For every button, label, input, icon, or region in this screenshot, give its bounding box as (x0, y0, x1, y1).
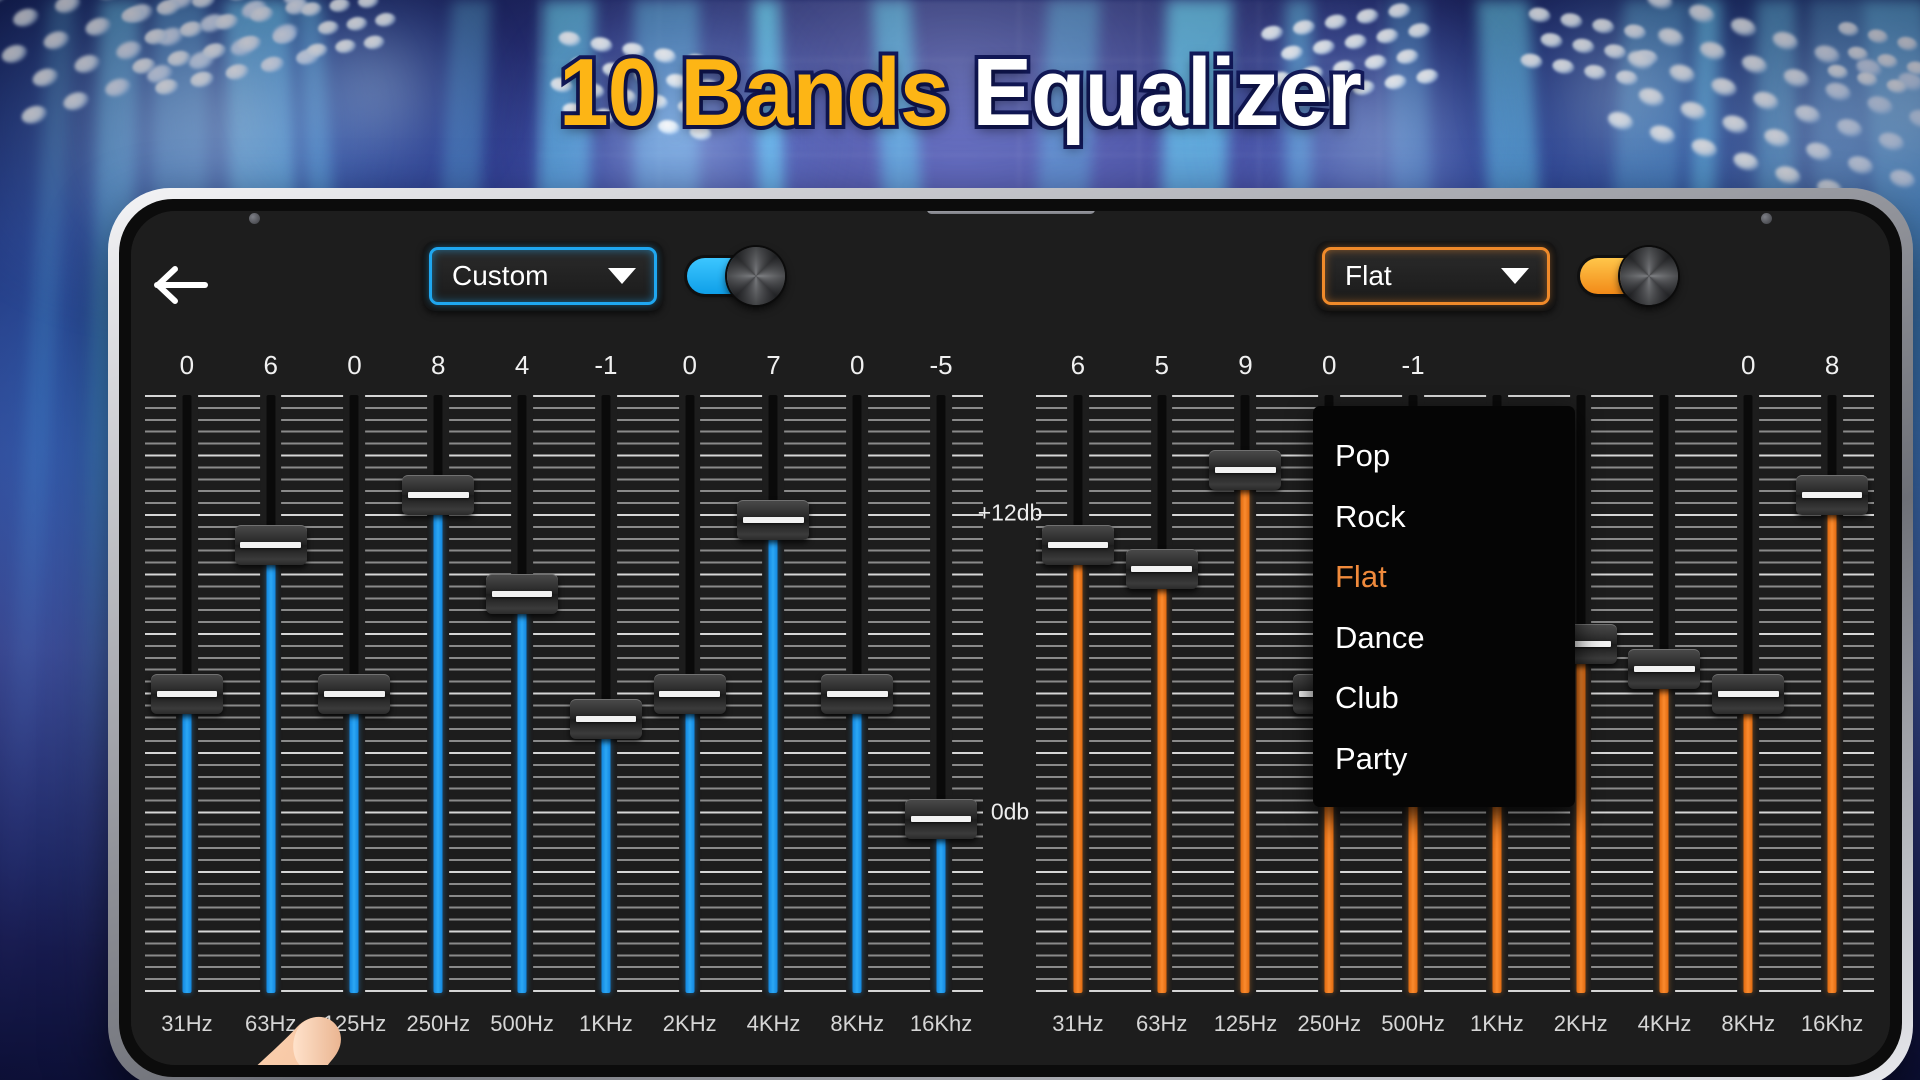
slider-track-filled (434, 495, 443, 993)
slider-value-label (1455, 347, 1539, 383)
slider-track-filled (769, 520, 778, 993)
slider-thumb[interactable] (1042, 525, 1114, 565)
slider-track-filled (266, 545, 275, 994)
db-scale-mid-label: 0db (991, 799, 1029, 826)
eq-slider[interactable] (229, 395, 313, 993)
slider-value-label: -1 (564, 347, 648, 383)
slider-value-label: 8 (396, 347, 480, 383)
slider-value-label: 0 (815, 347, 899, 383)
slider-thumb[interactable] (151, 674, 223, 714)
slider-thumb[interactable] (1628, 649, 1700, 689)
equalizer-app: Custom Flat (131, 211, 1890, 1065)
preset-menu-item[interactable]: Party (1313, 729, 1575, 790)
left-eq-toggle-knob (727, 247, 785, 305)
slider-frequency-label: 2KHz (648, 1009, 732, 1039)
slider-track[interactable] (1157, 395, 1166, 993)
slider-track-unfilled (350, 395, 359, 694)
slider-track-filled (601, 719, 610, 993)
slider-track[interactable] (937, 395, 946, 993)
left-preset-dropdown-value: Custom (452, 260, 548, 292)
slider-track-unfilled (1576, 395, 1585, 644)
eq-slider[interactable] (1204, 395, 1288, 993)
slider-thumb[interactable] (570, 699, 642, 739)
slider-frequency-label: 125Hz (1204, 1009, 1288, 1039)
slider-frequency-label: 31Hz (1036, 1009, 1120, 1039)
right-eq-toggle[interactable] (1580, 254, 1672, 298)
phone-device-frame: Custom Flat (108, 188, 1913, 1080)
slider-value-label: 4 (480, 347, 564, 383)
eq-slider[interactable] (899, 395, 983, 993)
slider-frequency-label: 250Hz (396, 1009, 480, 1039)
slider-thumb[interactable] (1796, 475, 1868, 515)
slider-track-unfilled (853, 395, 862, 694)
arrow-left-icon (153, 265, 211, 305)
slider-frequency-label: 2KHz (1539, 1009, 1623, 1039)
slider-frequency-label: 250Hz (1287, 1009, 1371, 1039)
phone-screen: Custom Flat (131, 211, 1890, 1065)
preset-dropdown-menu[interactable]: PopRockFlatDanceClubParty (1313, 406, 1575, 807)
slider-frequency-label: 8KHz (1706, 1009, 1790, 1039)
slider-track-filled (1073, 545, 1082, 994)
slider-track-unfilled (685, 395, 694, 694)
slider-value-label (1539, 347, 1623, 383)
slider-track-unfilled (1073, 395, 1082, 545)
app-topbar: Custom Flat (131, 211, 1890, 329)
slider-thumb[interactable] (905, 799, 977, 839)
slider-value-label: 6 (1036, 347, 1120, 383)
slider-track-filled (518, 594, 527, 993)
left-preset-dropdown-frame: Custom (423, 241, 663, 311)
phone-speaker-grille (927, 211, 1095, 214)
slider-thumb[interactable] (318, 674, 390, 714)
slider-track-unfilled (1744, 395, 1753, 694)
slider-thumb[interactable] (821, 674, 893, 714)
phone-sensor-dot (1761, 213, 1772, 224)
slider-value-label (1623, 347, 1707, 383)
slider-frequency-label: 8KHz (815, 1009, 899, 1039)
eq-slider[interactable] (732, 395, 816, 993)
equalizer-panel-custom: 06084-1070-5 31Hz63Hz125Hz250Hz500Hz1KHz… (145, 329, 983, 1065)
slider-track-unfilled (266, 395, 275, 545)
slider-track-filled (182, 694, 191, 993)
phone-bezel: Custom Flat (119, 199, 1902, 1077)
slider-frequency-label: 500Hz (480, 1009, 564, 1039)
right-preset-controls: Flat (1316, 241, 1672, 311)
right-eq-toggle-knob (1620, 247, 1678, 305)
eq-slider[interactable] (564, 395, 648, 993)
slider-frequency-label: 125Hz (313, 1009, 397, 1039)
right-preset-dropdown-frame: Flat (1316, 241, 1556, 311)
eq-slider[interactable] (396, 395, 480, 993)
slider-value-label: 0 (1287, 347, 1371, 383)
eq-slider[interactable] (1706, 395, 1790, 993)
db-scale-top-label: +12db (978, 500, 1043, 527)
slider-value-label: 5 (1120, 347, 1204, 383)
slider-value-label: 8 (1790, 347, 1874, 383)
eq-slider[interactable] (815, 395, 899, 993)
slider-track-filled (1828, 495, 1837, 993)
slider-thumb[interactable] (1126, 549, 1198, 589)
slider-track-filled (1576, 644, 1585, 993)
left-preset-controls: Custom (423, 241, 779, 311)
slider-track[interactable] (1576, 395, 1585, 993)
eq-slider[interactable] (648, 395, 732, 993)
chevron-down-icon (1501, 268, 1529, 284)
right-frequency-row: 31Hz63Hz125Hz250Hz500Hz1KHz2KHz4KHz8KHz1… (1036, 1009, 1874, 1039)
equalizer-panels: 06084-1070-5 31Hz63Hz125Hz250Hz500Hz1KHz… (131, 329, 1890, 1065)
phone-front-camera (249, 213, 260, 224)
slider-track[interactable] (601, 395, 610, 993)
eq-slider[interactable] (1623, 395, 1707, 993)
preset-menu-item[interactable]: Rock (1313, 487, 1575, 548)
eq-slider[interactable] (145, 395, 229, 993)
slider-frequency-label: 500Hz (1371, 1009, 1455, 1039)
slider-value-label: 6 (229, 347, 313, 383)
slider-value-label: -5 (899, 347, 983, 383)
slider-thumb[interactable] (1209, 450, 1281, 490)
slider-track-unfilled (182, 395, 191, 694)
slider-track-unfilled (1660, 395, 1669, 669)
slider-thumb[interactable] (486, 574, 558, 614)
slider-value-label: 7 (732, 347, 816, 383)
slider-frequency-label: 4KHz (732, 1009, 816, 1039)
slider-track-filled (1660, 669, 1669, 993)
slider-track-filled (937, 819, 946, 993)
slider-value-label: -1 (1371, 347, 1455, 383)
eq-slider[interactable] (1036, 395, 1120, 993)
right-preset-dropdown[interactable]: Flat (1322, 247, 1550, 305)
eq-slider[interactable] (313, 395, 397, 993)
slider-track-filled (1241, 470, 1250, 993)
slider-track[interactable] (266, 395, 275, 993)
right-preset-dropdown-value: Flat (1345, 260, 1392, 292)
left-preset-dropdown[interactable]: Custom (429, 247, 657, 305)
slider-track-unfilled (937, 395, 946, 819)
left-slider-group (145, 395, 983, 993)
left-frequency-row: 31Hz63Hz125Hz250Hz500Hz1KHz2KHz4KHz8KHz1… (145, 1009, 983, 1039)
slider-track-filled (1744, 694, 1753, 993)
slider-frequency-label: 1KHz (1455, 1009, 1539, 1039)
slider-thumb[interactable] (1712, 674, 1784, 714)
slider-track[interactable] (1073, 395, 1082, 993)
slider-thumb[interactable] (737, 500, 809, 540)
slider-track-unfilled (518, 395, 527, 594)
slider-track-filled (685, 694, 694, 993)
slider-frequency-label: 16Khz (1790, 1009, 1874, 1039)
slider-thumb[interactable] (235, 525, 307, 565)
slider-value-label: 9 (1204, 347, 1288, 383)
slider-frequency-label: 63Hz (1120, 1009, 1204, 1039)
preset-menu-item[interactable]: Flat (1313, 547, 1575, 608)
slider-thumb[interactable] (402, 475, 474, 515)
left-eq-toggle[interactable] (687, 254, 779, 298)
slider-track-filled (1157, 569, 1166, 993)
slider-track[interactable] (518, 395, 527, 993)
slider-value-label: 0 (648, 347, 732, 383)
slider-track-filled (853, 694, 862, 993)
preset-menu-item[interactable]: Pop (1313, 426, 1575, 487)
slider-track-unfilled (1157, 395, 1166, 569)
chevron-down-icon (608, 268, 636, 284)
eq-slider[interactable] (1790, 395, 1874, 993)
slider-value-label: 0 (1706, 347, 1790, 383)
slider-track-unfilled (601, 395, 610, 719)
preset-menu-item[interactable]: Dance (1313, 608, 1575, 669)
left-value-row: 06084-1070-5 (145, 347, 983, 383)
slider-value-label: 0 (145, 347, 229, 383)
slider-thumb[interactable] (654, 674, 726, 714)
slider-track[interactable] (1660, 395, 1669, 993)
slider-frequency-label: 31Hz (145, 1009, 229, 1039)
page-title-part-1: 10 Bands (559, 39, 972, 146)
slider-frequency-label: 16Khz (899, 1009, 983, 1039)
page-title: 10 Bands Equalizer (67, 38, 1853, 148)
right-value-row: 6590-108 (1036, 347, 1874, 383)
slider-frequency-label: 63Hz (229, 1009, 313, 1039)
back-button[interactable] (153, 265, 211, 305)
slider-track[interactable] (769, 395, 778, 993)
slider-track-filled (350, 694, 359, 993)
slider-frequency-label: 4KHz (1623, 1009, 1707, 1039)
db-scale: +12db 0db -12db (983, 447, 1037, 1065)
eq-slider[interactable] (480, 395, 564, 993)
eq-slider[interactable] (1120, 395, 1204, 993)
preset-menu-item[interactable]: Club (1313, 668, 1575, 729)
page-title-part-2: Equalizer (972, 39, 1361, 146)
slider-frequency-label: 1KHz (564, 1009, 648, 1039)
slider-value-label: 0 (313, 347, 397, 383)
